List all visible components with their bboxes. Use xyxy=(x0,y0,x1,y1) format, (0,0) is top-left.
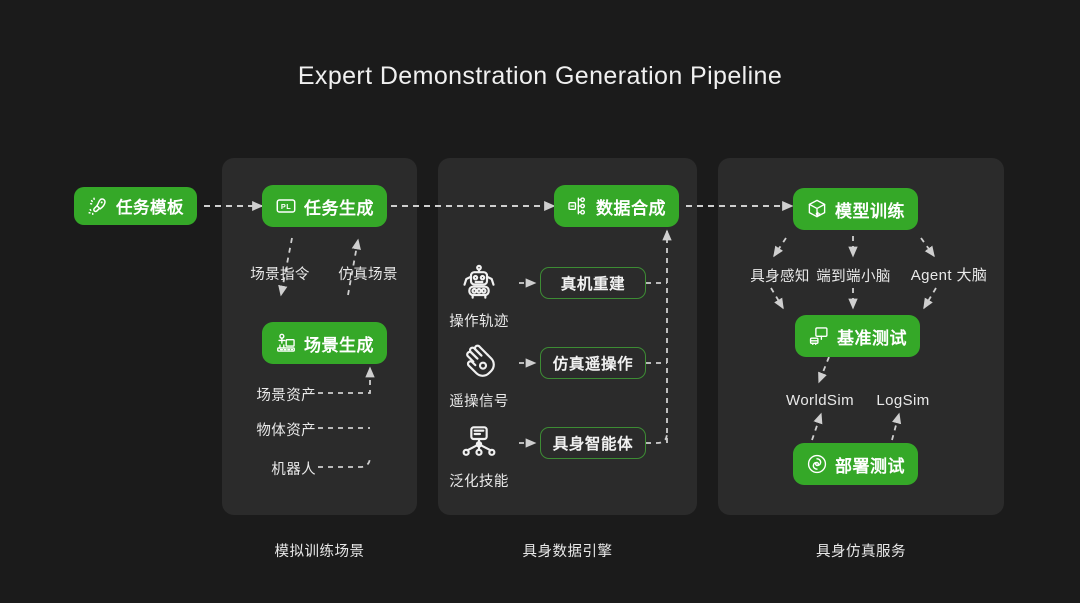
node-scene-generation[interactable]: 场景生成 xyxy=(262,322,387,364)
node-label: 基准测试 xyxy=(837,324,907,349)
glove-icon xyxy=(459,343,499,383)
edge-label-worldsim: WorldSim xyxy=(772,392,868,409)
input-label-robot: 机器人 xyxy=(228,458,316,479)
node-label: 场景生成 xyxy=(304,331,374,356)
edge-label-agent-brain: Agent 大脑 xyxy=(897,264,1001,285)
rocket-icon xyxy=(87,195,109,217)
edge-label-logsim: LogSim xyxy=(864,392,942,409)
node-label: 数据合成 xyxy=(596,194,666,219)
panel-caption-embodied-data-engine: 具身数据引擎 xyxy=(438,540,697,561)
panel-caption-embodied-sim-service: 具身仿真服务 xyxy=(718,540,1004,561)
edge-label-scene-instruction: 场景指令 xyxy=(232,263,328,284)
edge-label-end-to-end-cerebellum: 端到端小脑 xyxy=(803,265,904,286)
node-deployment-test[interactable]: 部署测试 xyxy=(793,443,918,485)
source-label-generalization-skill: 泛化技能 xyxy=(439,470,519,491)
node-model-training[interactable]: 模型训练 xyxy=(793,188,918,230)
node-task-generation[interactable]: PL 任务生成 xyxy=(262,185,387,227)
panel-caption-sim-training-scene: 模拟训练场景 xyxy=(222,540,417,561)
source-label-operation-trajectory: 操作轨迹 xyxy=(439,310,519,331)
code-block-icon: PL xyxy=(275,195,297,217)
box-embodied-agent[interactable]: 具身智能体 xyxy=(540,427,646,459)
source-label-teleop-signal: 遥操信号 xyxy=(439,390,519,411)
box-real-machine-reconstruction[interactable]: 真机重建 xyxy=(540,267,646,299)
node-task-template[interactable]: 任务模板 xyxy=(74,187,197,225)
input-label-scene-assets: 场景资产 xyxy=(228,384,316,405)
data-sync-icon xyxy=(567,195,589,217)
robot-icon xyxy=(459,263,499,303)
edge-label-sim-scene: 仿真场景 xyxy=(320,263,416,284)
page-title: Expert Demonstration Generation Pipeline xyxy=(0,62,1080,91)
node-label: 模型训练 xyxy=(835,197,905,222)
box-simulated-teleoperation[interactable]: 仿真遥操作 xyxy=(540,347,646,379)
node-data-synthesis[interactable]: 数据合成 xyxy=(554,185,679,227)
benchmark-icon xyxy=(808,325,830,347)
cube-train-icon xyxy=(806,198,828,220)
input-label-object-assets: 物体资产 xyxy=(228,419,316,440)
diagram-canvas: Expert Demonstration Generation Pipeline xyxy=(0,0,1080,603)
scene-robot-icon xyxy=(275,332,297,354)
network-icon xyxy=(459,423,499,463)
node-label: 任务生成 xyxy=(304,194,374,219)
svg-text:PL: PL xyxy=(281,202,291,211)
node-benchmark-test[interactable]: 基准测试 xyxy=(795,315,920,357)
node-label: 部署测试 xyxy=(835,452,905,477)
deploy-icon xyxy=(806,453,828,475)
node-label: 任务模板 xyxy=(116,194,184,218)
